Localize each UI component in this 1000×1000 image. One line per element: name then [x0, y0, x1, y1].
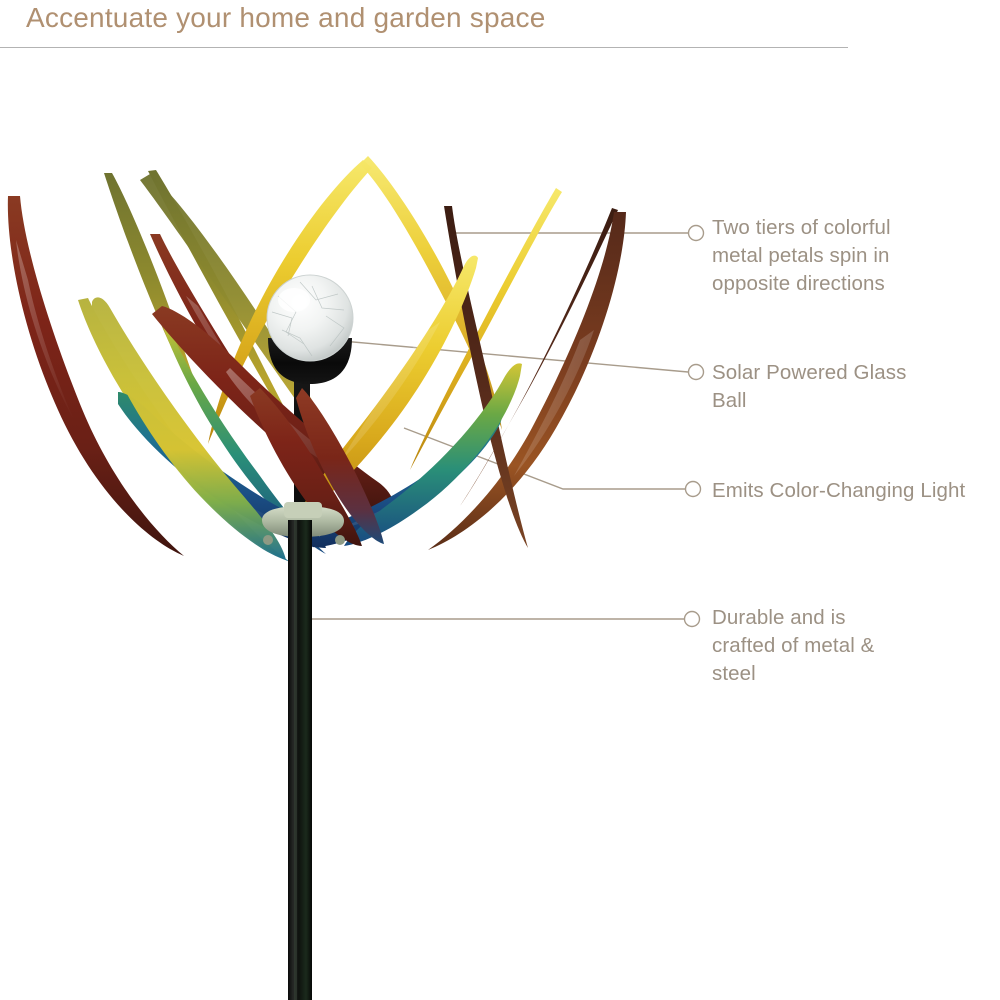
- stake-pole: [288, 520, 312, 1000]
- petal-brown-right-outer: [460, 208, 618, 506]
- circle-marker-3: [686, 482, 701, 497]
- stake-pole-highlight: [294, 520, 297, 1000]
- circle-marker-1: [689, 226, 704, 241]
- product-feature-page: Accentuate your home and garden space: [0, 0, 1000, 1000]
- wind-spinner-graphic: [8, 156, 626, 1000]
- callout-solar-glass-ball: Solar Powered Glass Ball: [712, 359, 1000, 415]
- circle-marker-4: [685, 612, 700, 627]
- hub-bolt-left: [263, 535, 273, 545]
- callout-two-tiers: Two tiers of colorful metal petals spin …: [712, 214, 1000, 298]
- hub-bolt-right: [335, 535, 345, 545]
- leader-markers: [685, 226, 704, 627]
- hub-collar: [284, 502, 322, 518]
- glass-ball-sphere: [267, 275, 353, 361]
- glass-ball-specular: [278, 288, 310, 312]
- callout-color-changing-light: Emits Color-Changing Light: [712, 477, 1000, 505]
- circle-marker-2: [689, 365, 704, 380]
- callout-durable-metal-steel: Durable and is crafted of metal & steel: [712, 604, 1000, 688]
